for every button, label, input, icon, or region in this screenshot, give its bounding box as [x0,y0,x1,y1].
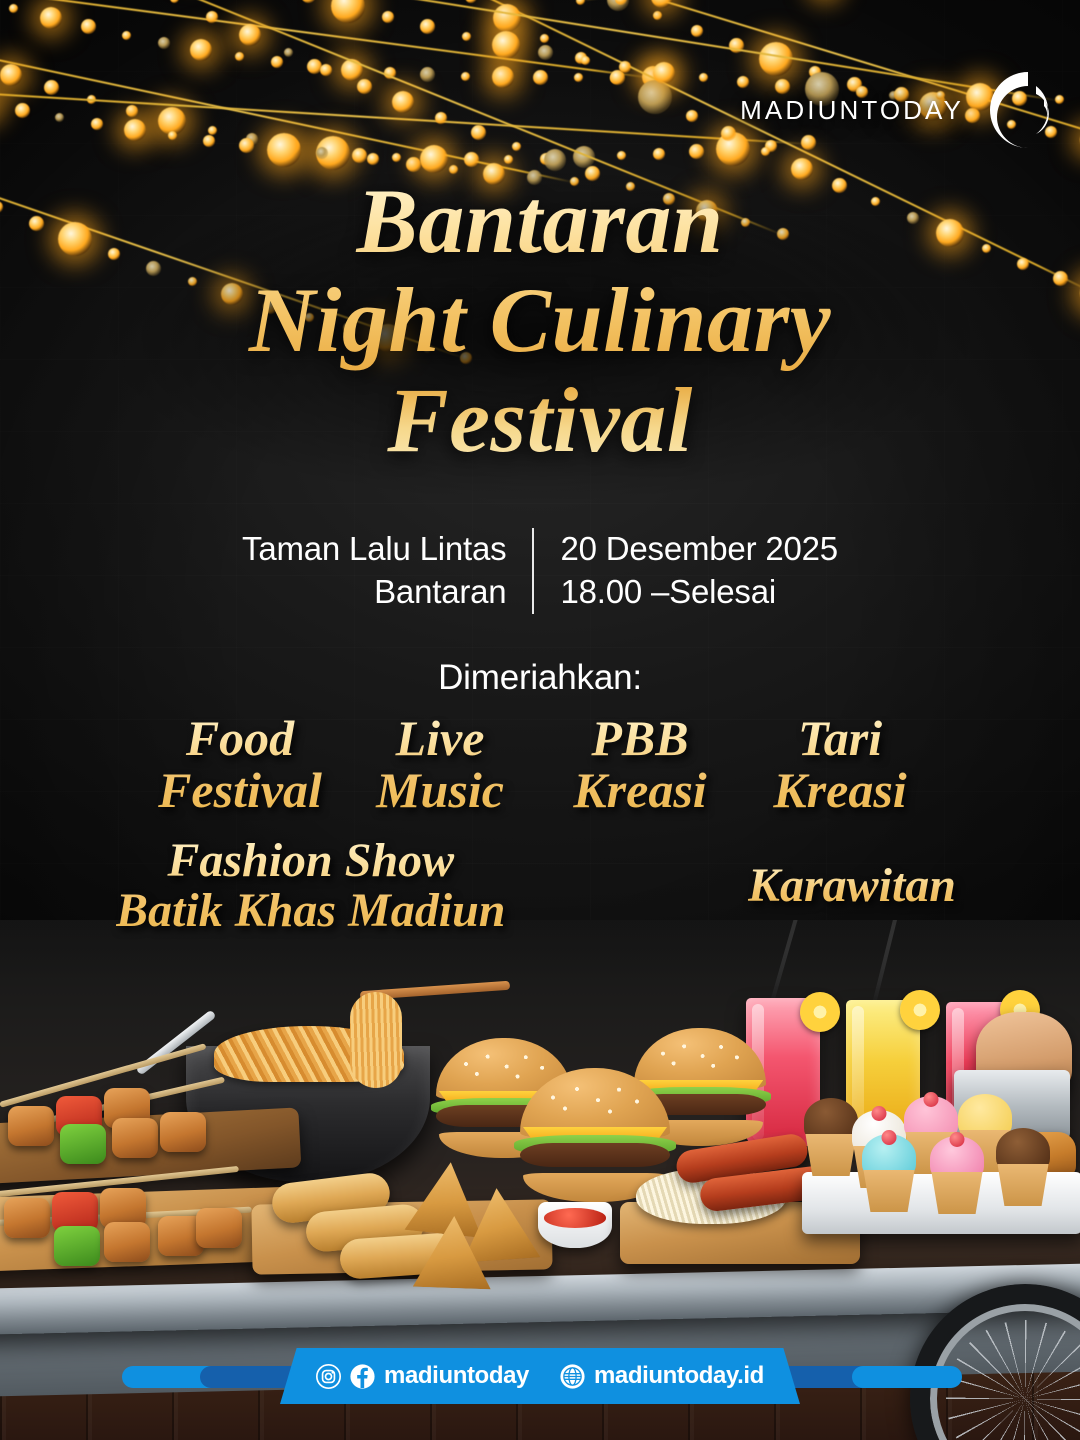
satay-meat-cube [160,1112,206,1152]
light-bulb [170,0,179,3]
cupcake-liner [928,1172,986,1214]
title-line-1: Bantaran [30,172,1050,271]
page-title: Bantaran Night Culinary Festival [0,172,1080,470]
cupcake-liner [994,1164,1052,1206]
light-bulb [122,31,131,40]
lineup-item-fashion-show: Fashion Show Batik Khas Madiun [116,836,505,936]
social-handle-text: madiuntoday [384,1364,529,1388]
light-bulb [581,56,590,65]
poster-canvas: MADIUNTODAY Bantaran Night Culinary Fest… [0,0,1080,1440]
light-bulb [352,148,367,163]
light-bulb [316,147,328,159]
light-bulb [544,149,566,171]
light-bulb [435,112,447,124]
light-bulb [492,66,514,88]
light-bulb [382,11,394,23]
light-bulb [576,0,585,5]
datetime-text: 20 Desember 2025 18.00 –Selesai [534,528,837,614]
footer-center-panel: madiuntoday madiuntoday.id [280,1348,800,1404]
light-bulb [392,91,414,113]
light-bulb [512,142,521,151]
burger-patty [520,1143,670,1167]
facebook-icon[interactable] [350,1364,375,1389]
light-bulb [464,152,479,167]
footer-stripe-right-light [852,1366,962,1388]
light-bulb [235,52,244,61]
light-bulb [301,0,316,3]
light-bulb [15,103,30,118]
light-bulb [574,73,583,82]
satay-meat-cube [104,1222,150,1262]
light-bulb [651,0,673,8]
lineup-item-karawitan: Karawitan [748,861,956,911]
light-bulb [420,67,435,82]
satay-pepper-green [54,1226,100,1266]
light-bulb [465,0,477,3]
light-bulb [653,148,665,160]
cupcake-blue [856,1134,922,1212]
madiuntoday-swoosh-logo-icon [970,62,1054,158]
light-bulb [320,64,332,76]
noodles-lifted [350,992,402,1088]
light-bulb [203,135,215,147]
light-bulb [239,138,254,153]
brand-logo-text: MADIUNTODAY [740,95,964,126]
globe-icon[interactable] [560,1364,585,1389]
sauce-bowl [538,1202,612,1248]
light-bulb [357,79,372,94]
lemon-slice-garnish [900,990,940,1030]
instagram-icon[interactable] [316,1364,341,1389]
lineup-row-primary: Food Festival Live Music PBB Kreasi Tari… [40,712,1040,816]
satay-meat-cube [8,1106,54,1146]
title-line-2: Night Culinary [30,271,1050,370]
light-bulb [267,133,301,167]
light-bulb [462,32,471,41]
light-bulb [686,110,698,122]
cupcake-chocolate-front [990,1128,1056,1206]
light-bulb [331,0,365,23]
light-bulb [493,4,521,32]
cupcake-liner [860,1170,918,1212]
lemon-slice-garnish [800,992,840,1032]
light-bulb [540,34,549,43]
lineup-item-live-music: Live Music [340,712,540,816]
cupcake-pink-front [924,1136,990,1214]
strawberry-topper [950,1132,965,1147]
light-bulb [0,64,22,86]
light-bulb [617,151,626,160]
light-bulb [1055,95,1064,104]
lineup-row-secondary: Fashion Show Batik Khas Madiun Karawitan [60,836,1020,936]
satay-meat-cube [196,1208,242,1248]
light-bulb [538,45,553,60]
satay-pepper-green [60,1124,106,1164]
strawberry-topper [882,1130,897,1145]
light-bulb [126,105,138,117]
satay-meat-cube [112,1118,158,1158]
brand-logo: MADIUNTODAY [740,62,1054,158]
light-bulb [55,113,64,122]
light-bulb [392,153,401,162]
light-bulb [168,131,177,140]
light-bulb [420,19,435,34]
light-bulb [190,39,212,61]
light-bulb [420,145,448,173]
venue-text: Taman Lalu Lintas Bantaran [242,528,532,614]
lineup-label: Dimeriahkan: [0,658,1080,698]
light-bulb [691,25,703,37]
light-bulb [239,24,261,46]
light-bulb [492,31,520,59]
lineup-item-pbb-kreasi: PBB Kreasi [540,712,740,816]
event-details: Taman Lalu Lintas Bantaran 20 Desember 2… [0,528,1080,614]
website-text: madiuntoday.id [594,1364,764,1388]
lineup-item-tari-kreasi: Tari Kreasi [740,712,940,816]
light-bulb [40,7,62,29]
light-bulb [124,119,146,141]
light-bulb [271,56,283,68]
light-bulb [9,4,18,13]
light-bulb [653,11,662,20]
light-bulb [91,118,103,130]
light-bulb [471,125,486,140]
light-bulb [367,153,379,165]
title-line-3: Festival [30,371,1050,470]
light-bulb [158,37,170,49]
light-bulb [689,144,704,159]
light-bulb [44,80,59,95]
light-bulb [504,155,513,164]
light-bulb [284,48,293,57]
lineup-item-food-festival: Food Festival [140,712,340,816]
light-bulb [208,126,217,135]
light-bulb [619,61,631,73]
light-bulb [699,73,708,82]
strawberry-topper [924,1092,939,1107]
light-bulb [638,80,672,114]
light-bulb [533,70,548,85]
light-bulb [461,72,470,81]
strawberry-topper [872,1106,887,1121]
light-bulb [81,19,96,34]
satay-meat-cube [4,1198,50,1238]
light-bulb [653,62,675,84]
footer-social-bar: madiuntoday madiuntoday.id [0,1348,1080,1404]
